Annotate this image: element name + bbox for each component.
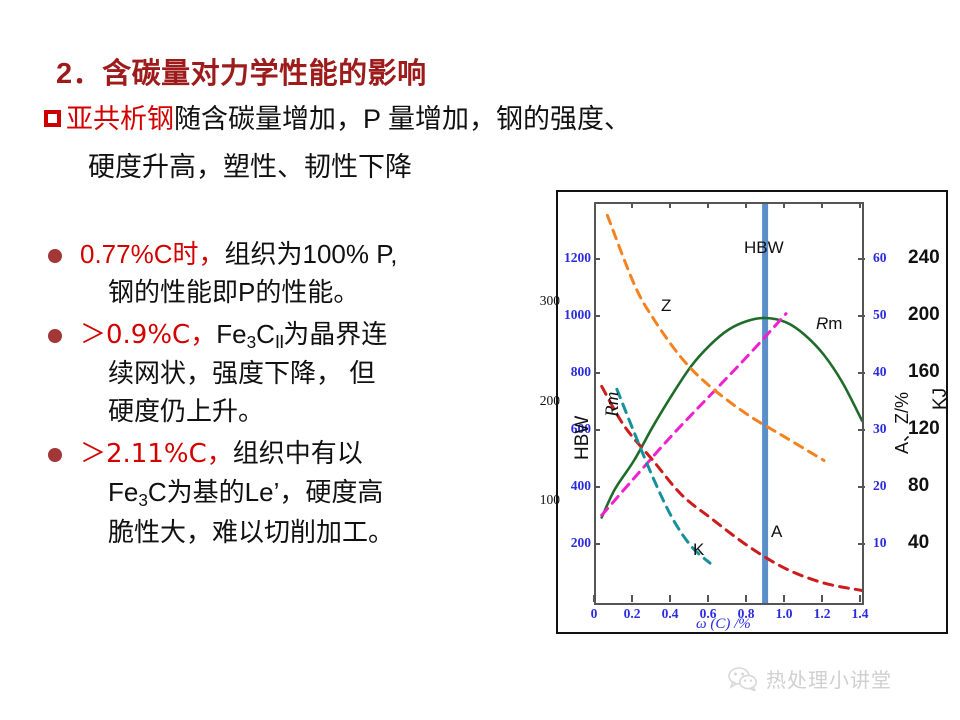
bullet-2-text: 为晶界连 bbox=[283, 319, 387, 349]
curve-label-hbw: HBW bbox=[744, 238, 784, 258]
bullet-3-line-1: ＞2.11%C，组织中有以 bbox=[80, 435, 554, 474]
list-item: ＞2.11%C，组织中有以 Fe3C为基的Le’，硬度高 脆性大，难以切削加工。 bbox=[44, 435, 554, 551]
series-z-curve bbox=[607, 215, 824, 460]
lead-line-1: 亚共析钢随含碳量增加，P 量增加，钢的强度、 bbox=[44, 104, 564, 135]
curve-label-rm: Rm bbox=[816, 314, 842, 334]
x-top-tick-mark bbox=[783, 202, 785, 208]
az-tick-30: 30 bbox=[873, 422, 887, 436]
az-tick-mark bbox=[858, 429, 865, 431]
curve-label-a: A bbox=[771, 522, 782, 542]
round-bullet-icon bbox=[48, 329, 62, 343]
x-tick-mark bbox=[593, 595, 595, 602]
kj-tick-160: 160 bbox=[908, 362, 940, 381]
x-top-tick-mark bbox=[707, 202, 709, 208]
bullet-2-line-1: ＞0.9%C，Fe3CII为晶界连 bbox=[80, 316, 554, 356]
bullet-3-formula-sub3: 3 bbox=[138, 490, 148, 510]
bullet-3-line-3: 脆性大，难以切削加工。 bbox=[108, 514, 554, 552]
curve-label-k: K bbox=[693, 540, 704, 560]
bullet-1-line-2: 钢的性能即P的性能。 bbox=[108, 274, 554, 312]
az-tick-40: 40 bbox=[873, 365, 887, 379]
lead-line-1-rest: 随含碳量增加，P 量增加，钢的强度、 bbox=[174, 104, 631, 134]
bullet-3-formula-fe: Fe bbox=[108, 477, 138, 507]
series-a-curve bbox=[602, 386, 862, 590]
list-item: ＞0.9%C，Fe3CII为晶界连 续网状，强度下降， 但 硬度仍上升。 bbox=[44, 316, 554, 431]
list-item: 0.77%C时，组织为100% P, 钢的性能即P的性能。 bbox=[44, 236, 554, 312]
bullet-2-formula-c: C bbox=[256, 319, 275, 349]
watermark-text: 热处理小讲堂 bbox=[766, 664, 892, 693]
watermark: 热处理小讲堂 bbox=[728, 664, 892, 693]
x-top-tick-mark bbox=[631, 202, 633, 208]
bullet-2-highlight: ＞0.9%C， bbox=[80, 320, 216, 350]
rm-tick-mark bbox=[594, 429, 600, 431]
az-tick-mark bbox=[858, 543, 865, 545]
hbw-tick-300: 300 bbox=[540, 294, 560, 308]
lead-line-2: 硬度升高，塑性、韧性下降 bbox=[88, 145, 564, 184]
rm-tick-mark bbox=[594, 315, 600, 317]
hbw-tick-200: 200 bbox=[540, 394, 560, 408]
wechat-icon bbox=[728, 667, 758, 691]
x-tick-0: 0 bbox=[591, 607, 598, 621]
rm-tick-mark bbox=[594, 486, 600, 488]
bullet-2-line-3: 硬度仍上升。 bbox=[108, 393, 554, 431]
az-tick-mark bbox=[858, 258, 865, 260]
bullet-2-formula-sub3: 3 bbox=[247, 332, 257, 352]
kj-tick-80: 80 bbox=[908, 476, 929, 495]
rm-tick-800: 800 bbox=[571, 365, 591, 379]
x-axis-title: ω (C) /% bbox=[696, 616, 751, 633]
x-tick-mark bbox=[859, 595, 861, 602]
rm-tick-mark bbox=[594, 372, 600, 374]
kj-tick-240: 240 bbox=[908, 248, 940, 267]
rm-tick-mark bbox=[594, 543, 600, 545]
rm-tick-400: 400 bbox=[571, 479, 591, 493]
series-rm-curve bbox=[602, 318, 862, 518]
bullet-2-formula-fe: Fe bbox=[216, 319, 246, 349]
az-tick-20: 20 bbox=[873, 479, 887, 493]
rm-tick-200: 200 bbox=[571, 536, 591, 550]
x-top-tick-mark bbox=[821, 202, 823, 208]
rm-tick-1200: 1200 bbox=[564, 251, 591, 265]
bullet-1-line-1: 0.77%C时，组织为100% P, bbox=[80, 236, 554, 274]
bullet-3-formula-rest: C为基的Le’，硬度高 bbox=[148, 477, 383, 507]
rm-tick-1000: 1000 bbox=[564, 308, 591, 322]
x-tick-mark bbox=[745, 595, 747, 602]
rm-tick-mark bbox=[594, 258, 600, 260]
axis-title-rm: Rm bbox=[602, 392, 624, 417]
page-title: 2．含碳量对力学性能的影响 bbox=[56, 50, 427, 92]
x-tick-0.2: 0.2 bbox=[624, 607, 641, 621]
chart-curves bbox=[596, 204, 862, 603]
lead-keyword: 亚共析钢 bbox=[66, 104, 174, 134]
square-bullet-icon bbox=[44, 110, 61, 127]
axis-title-kj: KJ bbox=[930, 388, 952, 410]
az-tick-mark bbox=[858, 372, 865, 374]
plot-area bbox=[594, 202, 864, 605]
x-tick-1.2: 1.2 bbox=[814, 607, 831, 621]
kj-tick-200: 200 bbox=[908, 305, 940, 324]
bullet-1-highlight: 0.77%C时， bbox=[80, 239, 225, 269]
bullet-1-text: 组织为100% P, bbox=[225, 239, 398, 269]
kj-tick-40: 40 bbox=[908, 533, 929, 552]
bullet-list: 0.77%C时，组织为100% P, 钢的性能即P的性能。 ＞0.9%C，Fe3… bbox=[44, 236, 554, 555]
az-tick-60: 60 bbox=[873, 251, 887, 265]
series-hbw-curve bbox=[602, 314, 786, 516]
bullet-3-line-2: Fe3C为基的Le’，硬度高 bbox=[108, 474, 554, 513]
hbw-tick-100: 100 bbox=[540, 493, 560, 507]
x-tick-mark bbox=[707, 595, 709, 602]
az-tick-mark bbox=[858, 486, 865, 488]
bullet-2-line-2: 续网状，强度下降， 但 bbox=[108, 355, 554, 393]
x-tick-1.0: 1.0 bbox=[776, 607, 793, 621]
az-tick-mark bbox=[858, 315, 865, 317]
series-k-curve bbox=[617, 389, 710, 563]
x-tick-1.4: 1.4 bbox=[852, 607, 869, 621]
x-top-tick-mark bbox=[745, 202, 747, 208]
x-tick-mark bbox=[821, 595, 823, 602]
x-tick-mark bbox=[783, 595, 785, 602]
x-tick-mark bbox=[631, 595, 633, 602]
bullet-3-highlight: ＞2.11%C， bbox=[80, 439, 233, 469]
round-bullet-icon bbox=[48, 249, 62, 263]
az-tick-10: 10 bbox=[873, 536, 887, 550]
lead-paragraph: 亚共析钢随含碳量增加，P 量增加，钢的强度、 硬度升高，塑性、韧性下降 bbox=[44, 104, 564, 184]
x-tick-0.4: 0.4 bbox=[662, 607, 679, 621]
axis-title-hbw: HBW bbox=[572, 416, 594, 460]
x-top-tick-mark bbox=[859, 202, 861, 208]
x-tick-mark bbox=[669, 595, 671, 602]
az-tick-50: 50 bbox=[873, 308, 887, 322]
axis-title-az: A、Z/% bbox=[888, 392, 914, 454]
bullet-3-text: 组织中有以 bbox=[233, 438, 363, 468]
round-bullet-icon bbox=[48, 448, 62, 462]
x-top-tick-mark bbox=[669, 202, 671, 208]
curve-label-z: Z bbox=[661, 296, 671, 316]
chart-figure: 1200100080060040020030020010060504030201… bbox=[556, 190, 948, 634]
